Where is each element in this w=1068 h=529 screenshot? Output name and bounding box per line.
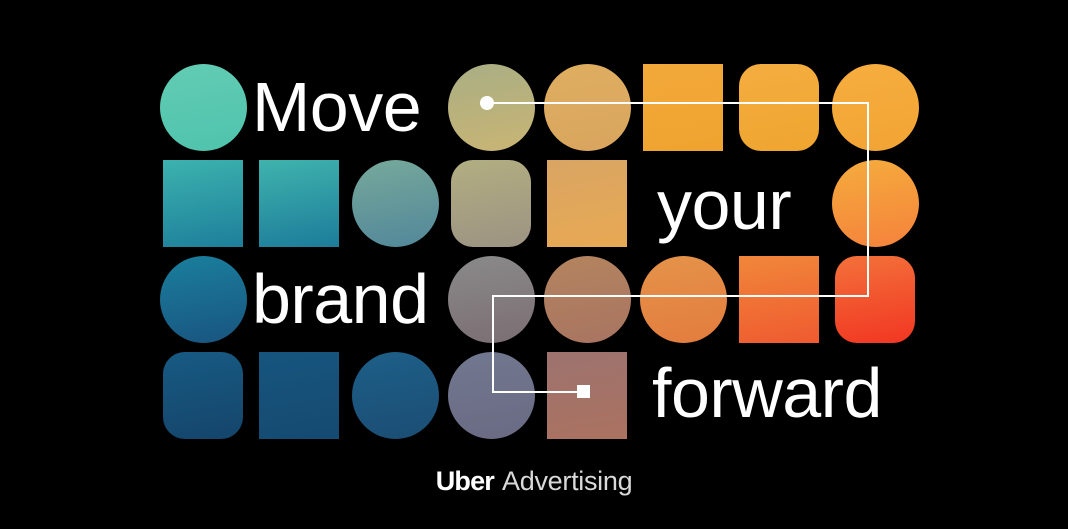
poster-canvas: Move your brand forward UberAdvertising — [0, 0, 1068, 529]
grid-tile-r0-c6 — [739, 64, 819, 151]
grid-tile-r1-c7 — [832, 160, 919, 247]
grid-tile-r1-c4 — [547, 160, 627, 247]
grid-tile-r3-c1 — [259, 352, 339, 439]
grid-tile-r0-c7 — [832, 64, 919, 151]
grid-tile-r2-c4 — [544, 256, 631, 343]
headline-word-your: your — [657, 170, 791, 240]
grid-tile-r2-c6 — [739, 256, 819, 343]
grid-tile-r3-c3 — [448, 352, 535, 439]
grid-tile-r1-c3 — [451, 160, 531, 247]
grid-tile-r3-c0 — [163, 352, 243, 439]
uber-advertising-logo: UberAdvertising — [0, 466, 1068, 497]
headline-word-forward: forward — [652, 358, 882, 428]
grid-tile-r1-c1 — [259, 160, 339, 247]
grid-tile-r2-c7 — [835, 256, 915, 343]
grid-tile-r3-c2 — [352, 352, 439, 439]
uber-wordmark: Uber — [436, 466, 494, 496]
grid-tile-r0-c5 — [643, 64, 723, 151]
grid-tile-r3-c4 — [547, 352, 627, 439]
grid-tile-r2-c0 — [160, 256, 247, 343]
advertising-wordmark: Advertising — [502, 466, 632, 496]
grid-tile-r0-c0 — [160, 64, 247, 151]
grid-tile-r2-c5 — [640, 256, 727, 343]
headline-word-brand: brand — [252, 264, 429, 334]
grid-tile-r0-c3 — [448, 64, 535, 151]
headline-word-move: Move — [252, 72, 421, 142]
grid-tile-r0-c4 — [544, 64, 631, 151]
grid-tile-r2-c3 — [448, 256, 535, 343]
grid-tile-r1-c0 — [163, 160, 243, 247]
grid-tile-r1-c2 — [352, 160, 439, 247]
